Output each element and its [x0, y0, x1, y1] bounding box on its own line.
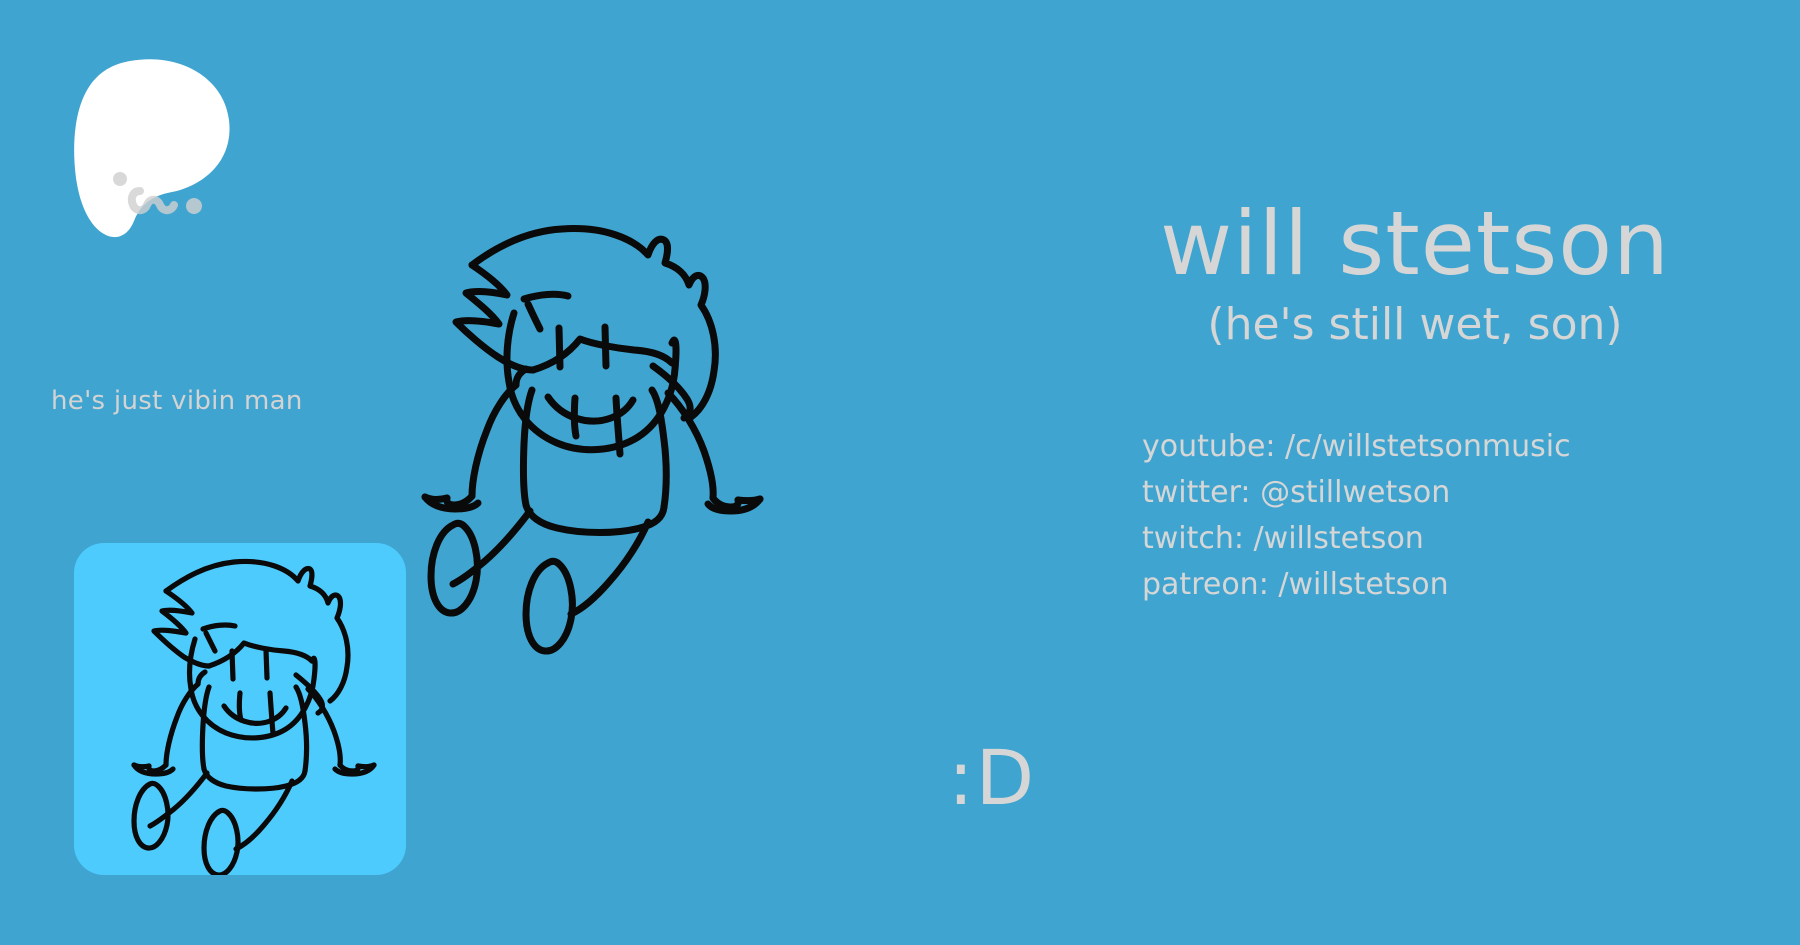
- channel-banner: he's just vibin man: [0, 0, 1800, 945]
- social-link-twitter[interactable]: twitter: @stillwetson: [1142, 470, 1760, 516]
- social-link-twitch[interactable]: twitch: /willstetson: [1142, 516, 1760, 562]
- channel-name: will stetson: [1070, 200, 1760, 288]
- info-panel: will stetson (he's still wet, son) youtu…: [1070, 200, 1760, 608]
- avatar-drawing: [74, 543, 406, 875]
- social-links-list: youtube: /c/willstetsonmusic twitter: @s…: [1070, 424, 1760, 608]
- hero-character-drawing: [400, 225, 840, 800]
- avatar[interactable]: [74, 543, 406, 875]
- social-link-patreon[interactable]: patreon: /willstetson: [1142, 562, 1760, 608]
- social-link-youtube[interactable]: youtube: /c/willstetsonmusic: [1142, 424, 1760, 470]
- grey-squiggle-doodle: [108, 165, 228, 235]
- channel-tagline: (he's still wet, son): [1070, 302, 1760, 348]
- smiley-emoticon: :D: [948, 740, 1036, 816]
- left-tagline: he's just vibin man: [51, 386, 303, 416]
